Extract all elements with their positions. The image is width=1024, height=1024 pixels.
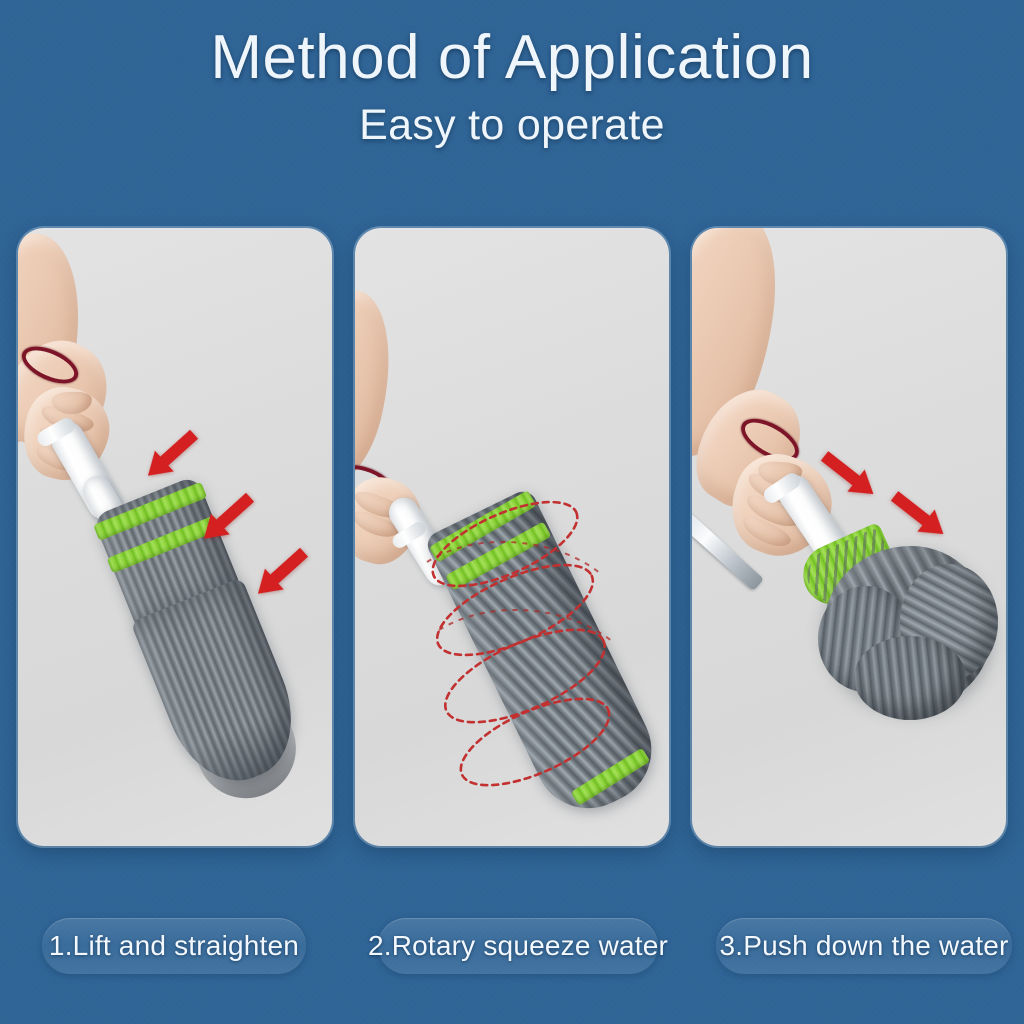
panel-2-artwork: [355, 228, 669, 846]
page-subtitle: Easy to operate: [0, 103, 1024, 148]
page-title: Method of Application: [0, 26, 1024, 89]
caption-step-1-label: 1.Lift and straighten: [49, 930, 299, 962]
panel-3-artwork: [692, 228, 1006, 846]
caption-step-2-label: 2.Rotary squeeze water: [368, 930, 668, 962]
mop-head-compressed: [796, 524, 1006, 744]
step-panel-1[interactable]: [18, 228, 332, 846]
caption-step-3[interactable]: 3.Push down the water: [716, 918, 1012, 974]
header: Method of Application Easy to operate: [0, 26, 1024, 148]
forearm: [355, 278, 410, 497]
step-panels: [18, 228, 1006, 846]
caption-step-2[interactable]: 2.Rotary squeeze water: [378, 918, 658, 974]
mop-ball-lobe-bottom: [854, 636, 966, 720]
panel-1-artwork: [18, 228, 332, 846]
step-captions: 1.Lift and straighten 2.Rotary squeeze w…: [0, 918, 1024, 982]
rotation-spiral-icon: [387, 478, 667, 846]
step-panel-3[interactable]: [692, 228, 1006, 846]
arrow-up-3: [248, 541, 314, 605]
infographic-root: Method of Application Easy to operate: [0, 0, 1024, 1024]
step-panel-2[interactable]: [355, 228, 669, 846]
caption-step-3-label: 3.Push down the water: [719, 930, 1008, 962]
caption-step-1[interactable]: 1.Lift and straighten: [42, 918, 306, 974]
